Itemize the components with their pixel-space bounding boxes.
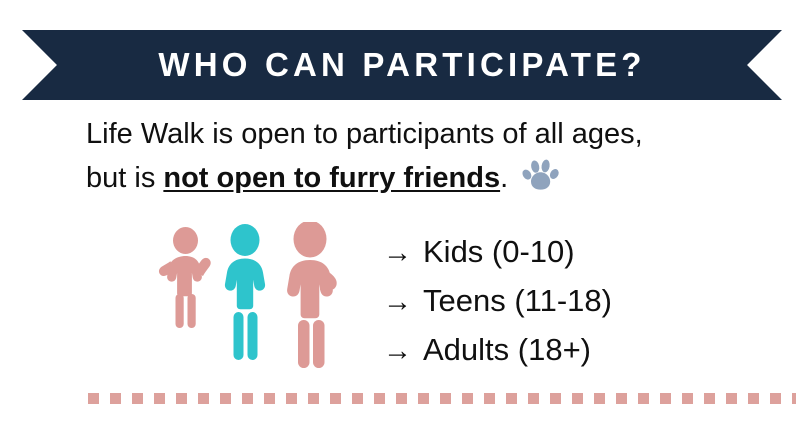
teen-figure: [225, 224, 265, 360]
paw-print-icon: [522, 159, 560, 206]
arrow-icon: →: [383, 229, 423, 277]
arrow-icon: →: [383, 278, 423, 326]
child-figure: [159, 227, 211, 328]
list-item: →Adults (18+): [383, 326, 612, 375]
list-item: →Kids (0-10): [383, 228, 612, 277]
intro-line-2-suffix: .: [500, 162, 508, 194]
intro-paragraph: Life Walk is open to participants of all…: [86, 112, 786, 206]
adult-figure: [287, 222, 337, 368]
age-group-label: Adults (18+): [423, 332, 591, 367]
banner: WHO CAN PARTICIPATE?: [22, 30, 782, 100]
age-group-label: Kids (0-10): [423, 234, 575, 269]
arrow-icon: →: [383, 327, 423, 375]
list-item: →Teens (11-18): [383, 277, 612, 326]
dotted-divider: [88, 393, 796, 404]
intro-line-2-prefix: but is: [86, 162, 163, 194]
age-group-label: Teens (11-18): [423, 283, 612, 318]
page-title: WHO CAN PARTICIPATE?: [22, 30, 782, 100]
intro-line-1: Life Walk is open to participants of all…: [86, 118, 643, 150]
people-figures-illustration: [152, 222, 362, 370]
age-group-list: →Kids (0-10) →Teens (11-18) →Adults (18+…: [383, 228, 612, 375]
intro-emphasis: not open to furry friends: [163, 162, 500, 194]
